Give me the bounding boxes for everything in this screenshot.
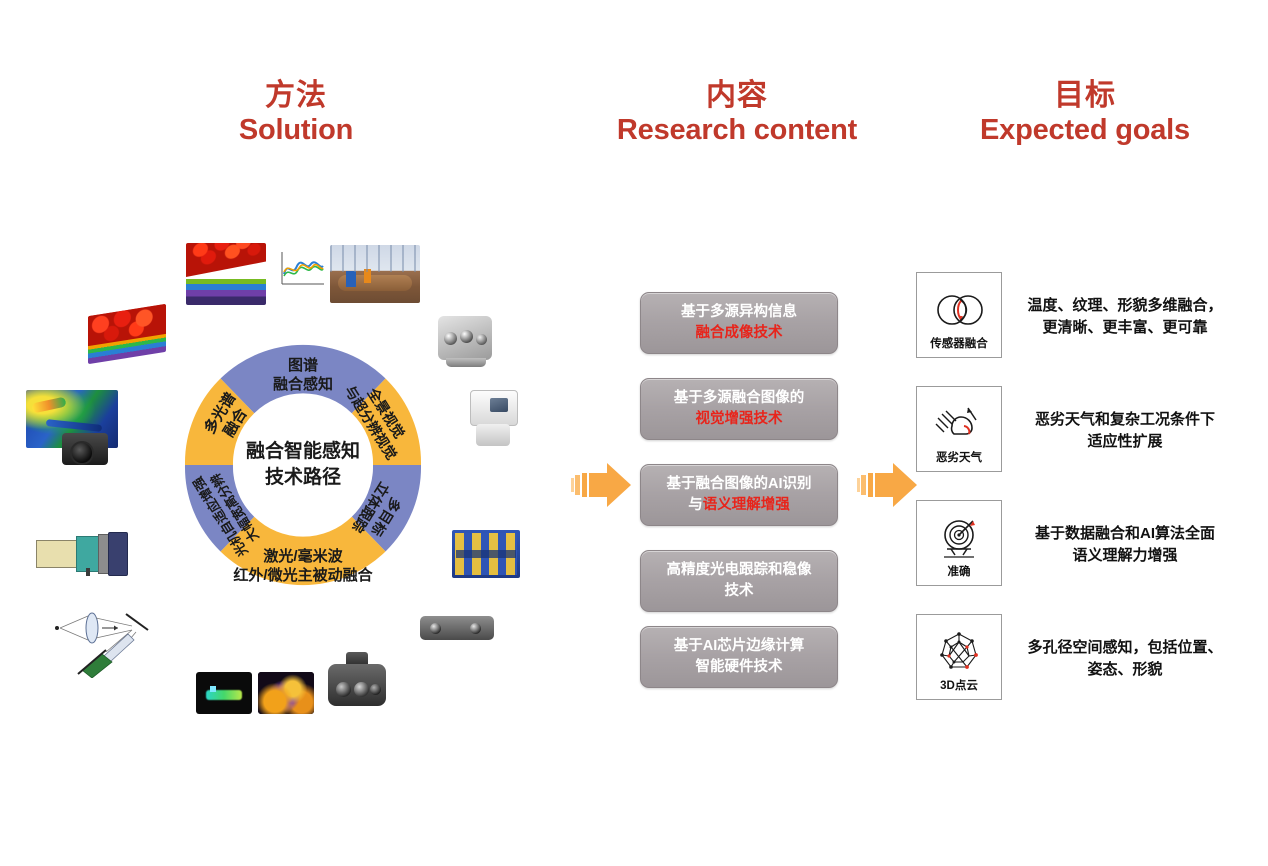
header-research-cn: 内容 xyxy=(612,78,862,113)
goal-card-2-caption: 恶劣天气 xyxy=(936,453,982,472)
header-goals-en: Expected goals xyxy=(960,113,1210,147)
wheel-label-jiguang-line1: 激光/毫米波 xyxy=(263,547,343,565)
research-box-3-line1: 基于融合图像的AI识别 xyxy=(667,474,812,495)
research-box-3-highlight: 语义理解增强 xyxy=(703,497,790,513)
hyperspectral-cube-image xyxy=(186,243,266,305)
research-box-5[interactable]: 基于AI芯片边缘计算 智能硬件技术 xyxy=(640,626,838,688)
goal-card-4-caption: 3D点云 xyxy=(940,681,978,700)
goal-text-2-line2: 适应性扩展 xyxy=(1000,431,1250,453)
goal-text-4-line1: 多孔径空间感知，包括位置、 xyxy=(1000,637,1250,659)
wheel-label-jiguang-line2: 红外/微光主被动融合 xyxy=(233,566,373,584)
goal-card-sensor-fusion[interactable]: 传感器融合 xyxy=(916,272,1002,358)
goal-text-1-line1: 温度、纹理、形貌多维融合， xyxy=(1000,295,1250,317)
research-box-5-line2: 智能硬件技术 xyxy=(674,657,805,678)
goal-card-accuracy[interactable]: 准确 xyxy=(916,500,1002,586)
research-box-4-line1: 高精度光电跟踪和稳像 xyxy=(667,560,812,581)
bad-weather-icon xyxy=(917,395,1001,453)
goal-card-point-cloud[interactable]: 3D点云 xyxy=(916,614,1002,700)
header-solution-en: Solution xyxy=(176,113,416,147)
lowlight-scene-image xyxy=(196,672,252,714)
spectral-curve-plot-image xyxy=(272,246,328,296)
technology-path-wheel: 图谱 融合感知 全景视觉 与超分辨视觉 多目标 立体跟踪 激光/毫米波 红外/微… xyxy=(138,300,468,630)
wheel-label-tupu-line1: 图谱 xyxy=(288,356,318,374)
goal-text-1-line2: 更清晰、更丰富、更可靠 xyxy=(1000,317,1250,339)
column-header-research: 内容 Research content xyxy=(612,78,862,148)
goal-text-2-line1: 恶劣天气和复杂工况条件下 xyxy=(1000,409,1250,431)
header-solution-cn: 方法 xyxy=(176,78,416,113)
wheel-center-label: 融合智能感知 技术路径 xyxy=(198,439,408,491)
point-cloud-icon xyxy=(917,623,1001,681)
header-research-en: Research content xyxy=(612,113,862,147)
arrow-right-icon-2 xyxy=(857,461,919,509)
ptz-sensor-unit-photo xyxy=(466,390,520,452)
column-header-goals: 目标 Expected goals xyxy=(960,78,1210,148)
goal-text-3-line1: 基于数据融合和AI算法全面 xyxy=(1000,523,1250,545)
eo-gimbal-turret-photo xyxy=(322,652,392,718)
thermal-camera-photo xyxy=(60,425,112,469)
goal-text-4-line2: 姿态、形貌 xyxy=(1000,659,1250,681)
target-accuracy-icon xyxy=(917,509,1001,567)
goal-text-4: 多孔径空间感知，包括位置、 姿态、形貌 xyxy=(1000,637,1250,681)
fusion-color-scene-image xyxy=(258,672,314,714)
goal-text-2: 恶劣天气和复杂工况条件下 适应性扩展 xyxy=(1000,409,1250,453)
research-box-5-line1: 基于AI芯片边缘计算 xyxy=(674,636,805,657)
column-header-solution: 方法 Solution xyxy=(176,78,416,148)
research-box-4[interactable]: 高精度光电跟踪和稳像 技术 xyxy=(640,550,838,612)
goal-text-1: 温度、纹理、形貌多维融合， 更清晰、更丰富、更可靠 xyxy=(1000,295,1250,339)
research-box-2-line2: 视觉增强技术 xyxy=(674,409,805,430)
wheel-center-line1: 融合智能感知 xyxy=(198,439,408,465)
goal-card-1-caption: 传感器融合 xyxy=(930,339,988,358)
industrial-pipeline-photo xyxy=(330,245,420,303)
research-box-2[interactable]: 基于多源融合图像的 视觉增强技术 xyxy=(640,378,838,440)
goal-card-bad-weather[interactable]: 恶劣天气 xyxy=(916,386,1002,472)
wheel-label-tupu-line2: 融合感知 xyxy=(273,375,333,393)
research-box-3-prefix: 与 xyxy=(688,497,703,513)
goal-text-3: 基于数据融合和AI算法全面 语义理解力增强 xyxy=(1000,523,1250,567)
diagram-canvas: 方法 Solution 内容 Research content 目标 Expec… xyxy=(0,0,1268,866)
research-box-1[interactable]: 基于多源异构信息 融合成像技术 xyxy=(640,292,838,354)
research-box-1-line1: 基于多源异构信息 xyxy=(681,302,797,323)
optical-module-diagram xyxy=(36,530,130,576)
goal-card-3-caption: 准确 xyxy=(948,567,971,586)
header-goals-cn: 目标 xyxy=(960,78,1210,113)
sensor-fusion-icon xyxy=(917,281,1001,339)
wheel-center-line2: 技术路径 xyxy=(198,465,408,491)
arrow-right-icon-1 xyxy=(571,461,633,509)
goal-text-3-line2: 语义理解力增强 xyxy=(1000,545,1250,567)
research-box-2-line1: 基于多源融合图像的 xyxy=(674,388,805,409)
research-box-4-line2: 技术 xyxy=(667,581,812,602)
research-box-3[interactable]: 基于融合图像的AI识别 与语义理解增强 xyxy=(640,464,838,526)
research-box-1-line2: 融合成像技术 xyxy=(681,323,797,344)
